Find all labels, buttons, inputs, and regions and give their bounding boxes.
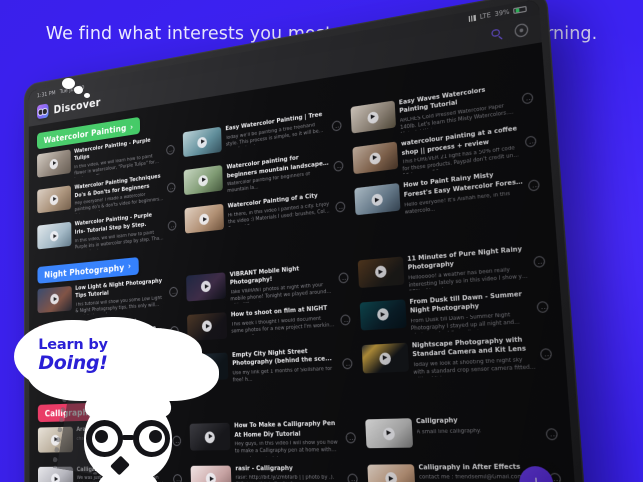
bubble-line-2: Doing! bbox=[38, 354, 107, 374]
video-meta: rasir - Calligraphyrasir: http://bit.ly/… bbox=[235, 464, 343, 482]
play-icon[interactable] bbox=[50, 294, 59, 305]
video-meta: Nightscape Photography with Standard Cam… bbox=[412, 336, 536, 378]
video-thumbnail[interactable] bbox=[352, 142, 398, 175]
video-thumbnail[interactable] bbox=[361, 343, 408, 374]
speech-bubble-tail-mid bbox=[74, 86, 83, 94]
battery-icon bbox=[513, 5, 527, 14]
more-options-icon[interactable] bbox=[170, 326, 179, 337]
more-options-icon[interactable] bbox=[525, 135, 537, 148]
video-meta: Watercolor Painting Techniques Do's & Do… bbox=[74, 173, 164, 214]
video-thumbnail[interactable] bbox=[183, 127, 222, 158]
battery-percent: 39% bbox=[494, 8, 510, 18]
owl-glasses-icon bbox=[86, 420, 170, 458]
speech-bubble-tail-small bbox=[84, 93, 90, 98]
more-options-icon[interactable] bbox=[342, 358, 353, 369]
video-meta: How to Paint Rainy Misty Forest's Easy W… bbox=[403, 169, 524, 217]
more-options-icon[interactable] bbox=[522, 92, 534, 105]
chevron-right-icon: › bbox=[130, 122, 133, 132]
video-card[interactable]: CalligraphyA small line calligraphy. bbox=[362, 412, 562, 457]
chevron-right-icon: › bbox=[128, 261, 131, 271]
video-thumbnail[interactable] bbox=[357, 256, 404, 288]
video-card[interactable]: Empty City Night Street Photography (beh… bbox=[186, 343, 355, 389]
play-icon[interactable] bbox=[205, 431, 215, 443]
more-options-icon[interactable] bbox=[338, 272, 348, 284]
play-icon[interactable] bbox=[202, 321, 212, 333]
owl-eye-left bbox=[86, 420, 123, 457]
network-label: LTE bbox=[480, 12, 492, 21]
play-icon[interactable] bbox=[371, 193, 383, 206]
video-thumbnail[interactable] bbox=[365, 419, 413, 449]
status-time: 1:31 PM bbox=[37, 90, 56, 99]
video-meta: Watercolor painting for beginners mounta… bbox=[226, 151, 329, 196]
video-thumbnail[interactable] bbox=[350, 101, 396, 134]
owl-mascot bbox=[76, 396, 180, 482]
search-icon[interactable] bbox=[490, 26, 504, 41]
video-thumbnail[interactable] bbox=[190, 423, 231, 451]
video-description: rasir: http://bit.ly/2m6farb | | photo b… bbox=[236, 475, 344, 482]
video-thumbnail[interactable] bbox=[359, 299, 406, 330]
more-options-icon[interactable] bbox=[166, 144, 175, 155]
video-meta: Watercolor Painting of a CityHi there, i… bbox=[228, 192, 332, 227]
play-icon[interactable] bbox=[385, 472, 397, 482]
video-card[interactable]: How To Make a Calligraphy Pen At Home Di… bbox=[188, 417, 359, 459]
video-thumbnail[interactable] bbox=[367, 464, 415, 482]
speech-bubble: Learn by Doing! bbox=[14, 320, 132, 392]
more-options-icon[interactable] bbox=[167, 182, 176, 193]
play-icon[interactable] bbox=[374, 265, 386, 278]
video-thumbnail[interactable] bbox=[184, 165, 223, 195]
more-options-icon[interactable] bbox=[340, 315, 350, 327]
more-options-icon[interactable] bbox=[345, 432, 356, 443]
gear-icon[interactable] bbox=[514, 22, 528, 38]
video-meta: VIBRANT Mobile Night Photography!Take VI… bbox=[230, 262, 335, 303]
video-meta: Easy Watercolor Painting | TreeToday we'… bbox=[225, 111, 327, 149]
owl-app-icon bbox=[37, 103, 49, 119]
more-options-icon[interactable] bbox=[528, 179, 540, 192]
video-meta: Watercolor Painting - Purple TulipsIn th… bbox=[74, 136, 163, 178]
video-thumbnail[interactable] bbox=[185, 204, 225, 234]
more-options-icon[interactable] bbox=[533, 256, 545, 269]
play-icon[interactable] bbox=[367, 111, 379, 124]
more-options-icon[interactable] bbox=[331, 120, 341, 132]
play-icon[interactable] bbox=[50, 158, 58, 169]
header-icon-group bbox=[490, 22, 529, 42]
video-title: rasir - Calligraphy bbox=[235, 464, 342, 474]
play-icon[interactable] bbox=[50, 194, 59, 205]
video-meta: CalligraphyA small line calligraphy. bbox=[416, 415, 541, 437]
play-icon[interactable] bbox=[50, 230, 59, 241]
page-title: Discover bbox=[53, 95, 100, 116]
video-meta: Empty City Night Street Photography (beh… bbox=[232, 347, 338, 386]
owl-eye-right bbox=[133, 420, 170, 457]
more-options-icon[interactable] bbox=[545, 428, 558, 440]
more-options-icon[interactable] bbox=[333, 160, 343, 172]
more-options-icon[interactable] bbox=[168, 220, 177, 231]
video-meta: Watercolor Painting - Purple Iris- Tutor… bbox=[75, 211, 165, 251]
video-thumbnail[interactable] bbox=[37, 186, 71, 214]
video-meta: Low Light & Night Photography Tips Tutor… bbox=[75, 277, 166, 315]
signal-icon bbox=[469, 15, 476, 22]
video-description: Today we look at shooting the night sky … bbox=[413, 357, 536, 378]
play-icon[interactable] bbox=[379, 352, 391, 365]
more-options-icon[interactable] bbox=[169, 287, 178, 298]
more-options-icon[interactable] bbox=[536, 301, 548, 313]
video-thumbnail[interactable] bbox=[191, 465, 232, 482]
play-icon[interactable] bbox=[377, 308, 389, 321]
video-thumbnail[interactable] bbox=[37, 222, 71, 250]
video-card[interactable]: Nightscape Photography with Standard Cam… bbox=[359, 332, 556, 382]
play-icon[interactable] bbox=[198, 174, 208, 186]
speech-bubble-text: Learn by Doing! bbox=[14, 320, 132, 392]
play-icon[interactable] bbox=[197, 136, 207, 148]
video-thumbnail[interactable] bbox=[188, 353, 228, 381]
more-options-icon[interactable] bbox=[171, 366, 180, 377]
video-card[interactable]: How to shoot on film at NIGHTThis week I… bbox=[185, 301, 353, 350]
more-options-icon[interactable] bbox=[335, 201, 345, 213]
video-meta: How to shoot on film at NIGHTThis week I… bbox=[231, 304, 336, 336]
video-title: How To Make a Calligraphy Pen At Home Di… bbox=[234, 420, 341, 440]
play-icon[interactable] bbox=[199, 213, 209, 225]
category-label: Night Photography bbox=[44, 261, 124, 279]
video-description: Hey guys, in this video I will show you … bbox=[235, 440, 342, 456]
video-meta: From Dusk till Dawn - Summer Night Photo… bbox=[409, 290, 533, 334]
more-options-icon[interactable] bbox=[540, 348, 553, 360]
video-thumbnail[interactable] bbox=[186, 272, 226, 301]
more-options-icon[interactable] bbox=[347, 473, 358, 482]
video-title: Calligraphy bbox=[416, 415, 540, 427]
video-thumbnail[interactable] bbox=[354, 184, 400, 216]
video-meta: How To Make a Calligraphy Pen At Home Di… bbox=[234, 420, 342, 456]
play-icon[interactable] bbox=[203, 361, 213, 373]
video-thumbnail[interactable] bbox=[37, 149, 71, 177]
video-meta: 11 Minutes of Pure Night Rainy Photograp… bbox=[407, 245, 530, 290]
play-icon[interactable] bbox=[201, 281, 211, 293]
video-card[interactable]: rasir - Calligraphyrasir: http://bit.ly/… bbox=[189, 462, 361, 482]
play-icon[interactable] bbox=[51, 473, 60, 482]
play-icon[interactable] bbox=[369, 152, 381, 165]
speech-bubble-tail-large bbox=[62, 78, 75, 89]
video-description: Use my link get 1 months of Skillshare f… bbox=[232, 366, 338, 385]
play-icon[interactable] bbox=[382, 427, 394, 440]
video-thumbnail[interactable] bbox=[187, 312, 227, 341]
video-description: A small line calligraphy. bbox=[417, 427, 541, 437]
play-icon[interactable] bbox=[206, 473, 216, 482]
video-thumbnail[interactable] bbox=[37, 286, 71, 313]
